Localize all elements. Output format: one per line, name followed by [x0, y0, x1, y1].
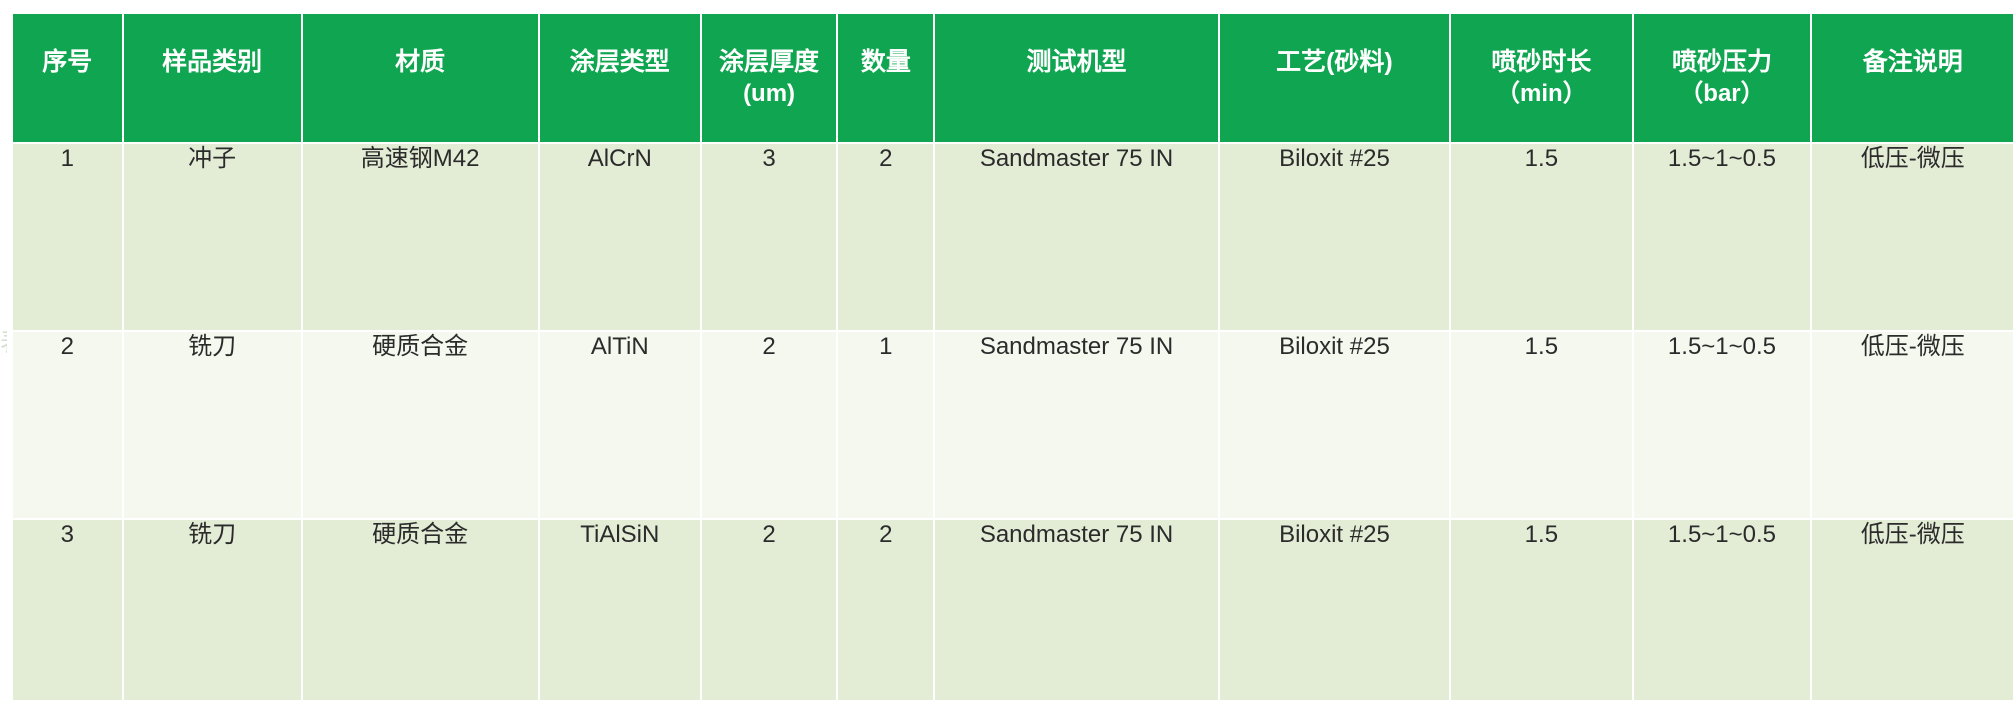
cell-note: 低压-微压 — [1812, 144, 2013, 330]
sample-test-parameters-table: 序号 样品类别 材质 涂层类型 涂层厚度 (um) 数量 — [11, 12, 2015, 702]
cell-thickness: 3 — [702, 144, 836, 330]
header-label-quantity: 数量 — [861, 48, 911, 76]
header-unit-blast-duration: （min） — [1451, 78, 1631, 110]
column-header-category[interactable]: 样品类别 — [124, 14, 301, 142]
header-label-blast-duration: 喷砂时长 — [1491, 48, 1591, 76]
cell-note: 低压-微压 — [1812, 520, 2013, 700]
cell-material: 硬质合金 — [303, 332, 538, 518]
header-label-category: 样品类别 — [162, 48, 262, 76]
cell-pressure: 1.5~1~0.5 — [1634, 144, 1811, 330]
clipped-edge-glyph: 表 — [0, 330, 7, 378]
cell-duration: 1.5 — [1451, 520, 1631, 700]
cell-material: 高速钢M42 — [303, 144, 538, 330]
column-header-process-media[interactable]: 工艺(砂料) — [1220, 14, 1450, 142]
cell-thickness: 2 — [702, 520, 836, 700]
spreadsheet-canvas: 表 序号 样品类别 材质 涂层类型 涂层厚度 (um) — [0, 0, 2015, 637]
column-header-blast-duration[interactable]: 喷砂时长 （min） — [1451, 14, 1631, 142]
cell-category: 铣刀 — [124, 520, 301, 700]
cell-quantity: 2 — [838, 144, 933, 330]
cell-machine: Sandmaster 75 IN — [935, 520, 1217, 700]
column-header-test-machine[interactable]: 测试机型 — [935, 14, 1217, 142]
cell-coating: AlCrN — [540, 144, 700, 330]
cell-coating: TiAlSiN — [540, 520, 700, 700]
table-row[interactable]: 3 铣刀 硬质合金 TiAlSiN 2 2 Sandmaster 75 IN B… — [13, 520, 2013, 700]
header-label-index: 序号 — [42, 48, 92, 76]
cell-process: Biloxit #25 — [1220, 144, 1450, 330]
table-body: 1 冲子 高速钢M42 AlCrN 3 2 Sandmaster 75 IN B… — [13, 144, 2013, 700]
header-label-remark: 备注说明 — [1863, 48, 1963, 76]
header-label-coating-thickness: 涂层厚度 — [719, 48, 819, 76]
column-header-remark[interactable]: 备注说明 — [1812, 14, 2013, 142]
cell-quantity: 1 — [838, 332, 933, 518]
cell-process: Biloxit #25 — [1220, 520, 1450, 700]
cell-note: 低压-微压 — [1812, 332, 2013, 518]
header-unit-coating-thickness: (um) — [702, 78, 836, 110]
header-label-blast-pressure: 喷砂压力 — [1672, 48, 1772, 76]
header-row: 序号 样品类别 材质 涂层类型 涂层厚度 (um) 数量 — [13, 14, 2013, 142]
column-header-material[interactable]: 材质 — [303, 14, 538, 142]
column-header-blast-pressure[interactable]: 喷砂压力 （bar） — [1634, 14, 1811, 142]
cell-pressure: 1.5~1~0.5 — [1634, 520, 1811, 700]
header-label-test-machine: 测试机型 — [1027, 48, 1127, 76]
cell-thickness: 2 — [702, 332, 836, 518]
cell-process: Biloxit #25 — [1220, 332, 1450, 518]
cell-duration: 1.5 — [1451, 332, 1631, 518]
table-row[interactable]: 1 冲子 高速钢M42 AlCrN 3 2 Sandmaster 75 IN B… — [13, 144, 2013, 330]
cell-machine: Sandmaster 75 IN — [935, 144, 1217, 330]
table-row[interactable]: 2 铣刀 硬质合金 AlTiN 2 1 Sandmaster 75 IN Bil… — [13, 332, 2013, 518]
table-header: 序号 样品类别 材质 涂层类型 涂层厚度 (um) 数量 — [13, 14, 2013, 142]
cell-duration: 1.5 — [1451, 144, 1631, 330]
header-unit-blast-pressure: （bar） — [1634, 78, 1811, 110]
cell-index: 1 — [13, 144, 122, 330]
cell-machine: Sandmaster 75 IN — [935, 332, 1217, 518]
cell-quantity: 2 — [838, 520, 933, 700]
column-header-index[interactable]: 序号 — [13, 14, 122, 142]
cell-material: 硬质合金 — [303, 520, 538, 700]
column-header-coating-thickness[interactable]: 涂层厚度 (um) — [702, 14, 836, 142]
column-header-coating-type[interactable]: 涂层类型 — [540, 14, 700, 142]
header-label-material: 材质 — [395, 48, 445, 76]
header-label-coating-type: 涂层类型 — [570, 48, 670, 76]
cell-index: 3 — [13, 520, 122, 700]
cell-category: 冲子 — [124, 144, 301, 330]
cell-category: 铣刀 — [124, 332, 301, 518]
header-label-process-media: 工艺(砂料) — [1276, 48, 1393, 76]
cell-pressure: 1.5~1~0.5 — [1634, 332, 1811, 518]
column-header-quantity[interactable]: 数量 — [838, 14, 933, 142]
cell-index: 2 — [13, 332, 122, 518]
cell-coating: AlTiN — [540, 332, 700, 518]
